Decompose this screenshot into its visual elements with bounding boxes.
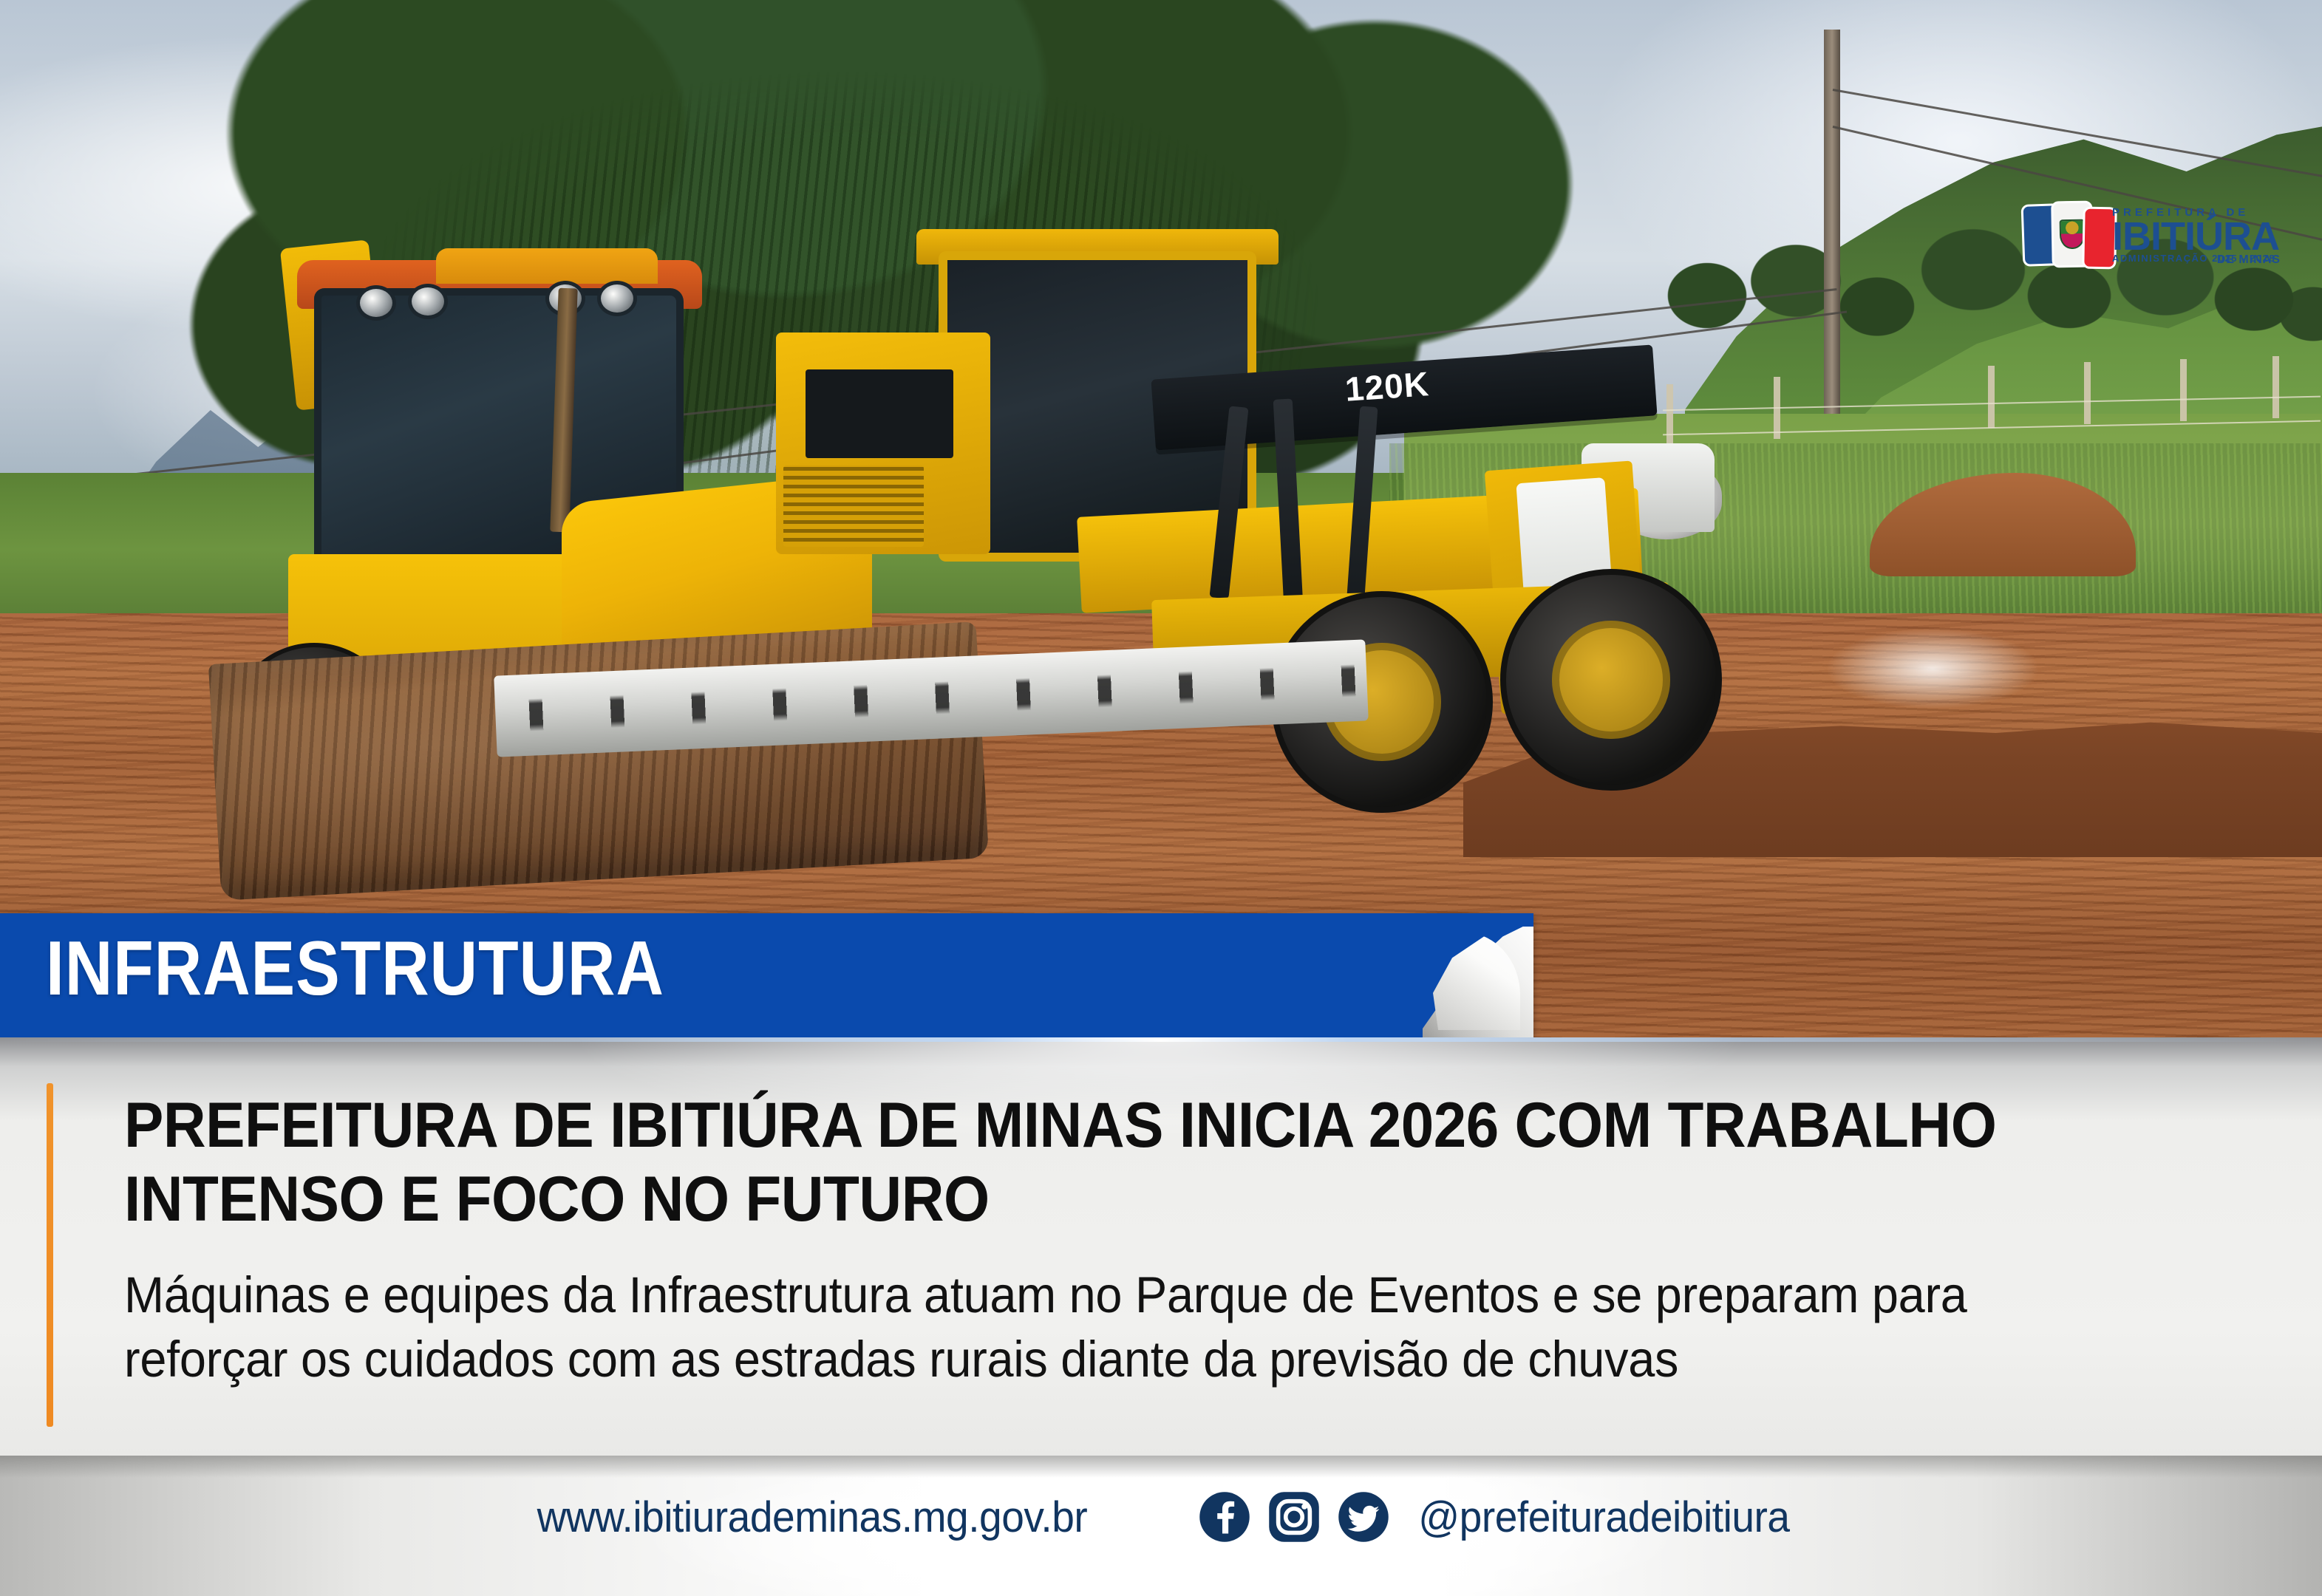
logo-wordmark: PREFEITURA DE IBITIÚRA ADMINISTRAÇÃO 202…	[2112, 207, 2279, 263]
category-banner: INFRAESTRUTURA	[0, 913, 1533, 1037]
instagram-icon[interactable]	[1267, 1490, 1321, 1544]
city-hall-logo: PREFEITURA DE IBITIÚRA ADMINISTRAÇÃO 202…	[2022, 194, 2258, 276]
page-curl-effect	[1423, 927, 1533, 1037]
model-badge: 120K	[1344, 364, 1430, 409]
news-poster: 120K PREFEITURA DE IBITIÚRA A	[0, 0, 2322, 1596]
footer: www.ibitiurademinas.mg.gov.br @prefeit	[0, 1456, 2322, 1596]
facebook-icon[interactable]	[1198, 1490, 1251, 1544]
fence-post	[1988, 366, 1995, 428]
article-subhead: Máquinas e equipes da Infraestrutura atu…	[124, 1263, 2090, 1392]
twitter-icon[interactable]	[1337, 1490, 1390, 1544]
category-label: INFRAESTRUTURA	[46, 925, 664, 1013]
flag-mark-icon	[2022, 199, 2109, 270]
work-light	[597, 281, 637, 316]
motor-grader: 120K	[835, 222, 1811, 887]
orange-accent-bar	[47, 1083, 53, 1427]
fence-post	[2180, 359, 2187, 421]
wheel	[1500, 569, 1722, 791]
work-light	[356, 285, 396, 321]
work-light	[408, 284, 448, 319]
logo-city-name: IBITIÚRA	[2112, 216, 2279, 256]
cab-roof-top	[436, 248, 658, 284]
logo-state: DE MINAS	[2217, 254, 2281, 266]
fence-post	[2272, 356, 2279, 418]
engine-grill	[783, 465, 924, 547]
fence-post	[2084, 362, 2091, 424]
social-links	[1198, 1490, 1390, 1544]
cat-logo-plate	[806, 369, 953, 458]
website-url[interactable]: www.ibitiurademinas.mg.gov.br	[537, 1493, 1088, 1542]
article-section: PREFEITURA DE IBITIÚRA DE MINAS INICIA 2…	[0, 1037, 2322, 1456]
coat-of-arms-icon	[2060, 219, 2086, 250]
dust-highlight	[1825, 628, 2040, 709]
social-handle[interactable]: @prefeituradeibitiura	[1418, 1493, 1789, 1542]
article-headline: PREFEITURA DE IBITIÚRA DE MINAS INICIA 2…	[124, 1089, 2055, 1237]
hero-photo: 120K PREFEITURA DE IBITIÚRA A	[0, 0, 2322, 1040]
